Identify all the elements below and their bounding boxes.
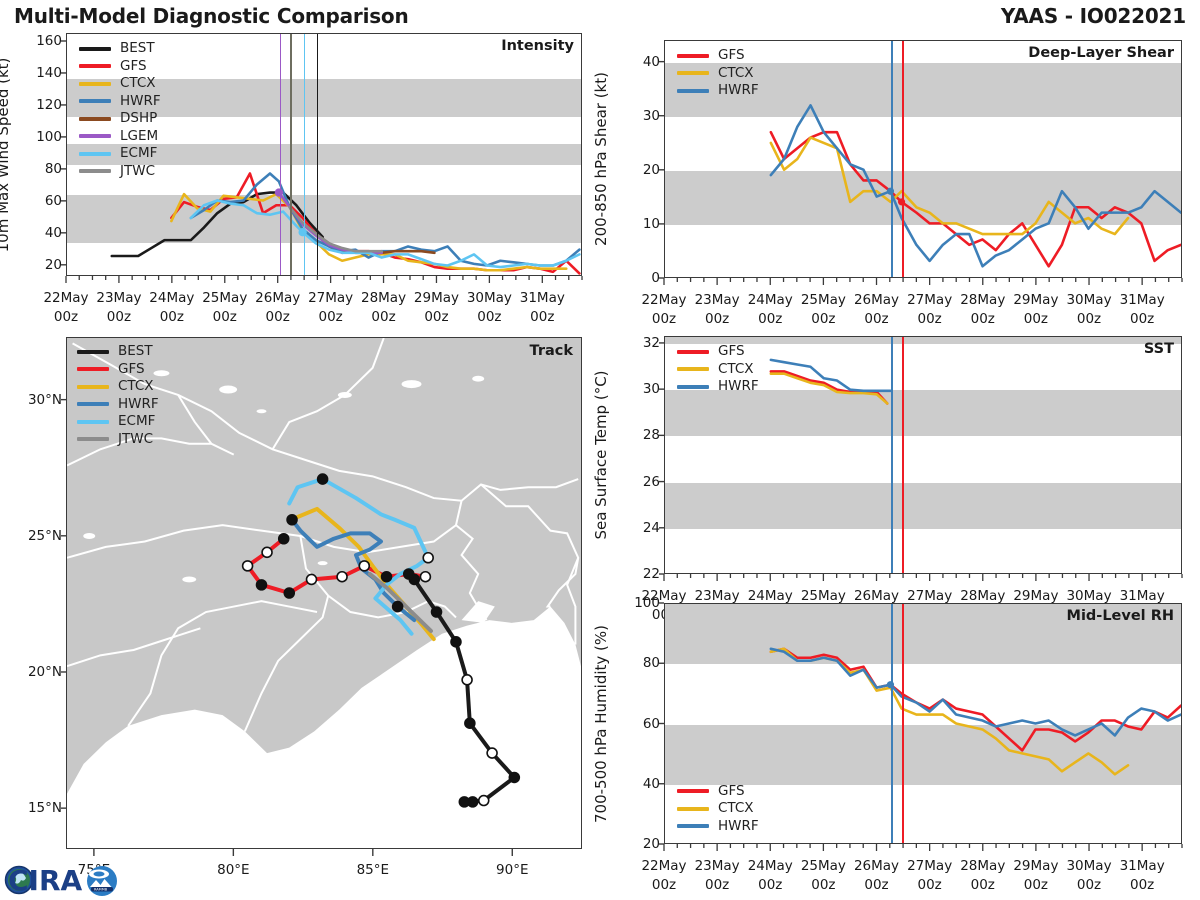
xtick-sublabel: 00z: [54, 309, 78, 325]
legend-swatch-ctcx: [77, 385, 109, 389]
track-point-filled: [393, 602, 403, 612]
legend-item-hwrf[interactable]: HWRF: [79, 93, 161, 111]
legend-swatch-ecmf: [77, 420, 109, 424]
plot-area-track: TrackBESTGFSCTCXHWRFECMFJTWC: [66, 337, 582, 849]
legend-item-hwrf[interactable]: HWRF: [677, 82, 759, 100]
svg-text:RAMMB: RAMMB: [94, 888, 108, 892]
axis-title-rh: 700-500 hPa Humidity (%): [592, 624, 610, 822]
legend-swatch-ctcx: [677, 71, 709, 75]
xtick-sublabel: 00z: [811, 311, 835, 327]
xtick-label: 29May: [414, 290, 459, 306]
axis-title-shear: 200-850 hPa Shear (kt): [592, 72, 610, 246]
xtick-sublabel: 00z: [318, 309, 342, 325]
track-point-filled: [459, 797, 469, 807]
legend-item-hwrf[interactable]: HWRF: [77, 396, 159, 414]
xtick-sublabel: 00z: [758, 311, 782, 327]
xtick-label: 29May: [1013, 858, 1058, 874]
legend-item-gfs[interactable]: GFS: [677, 783, 759, 801]
series-line-gfs: [171, 174, 579, 274]
xtick-sublabel: 00z: [1130, 877, 1154, 893]
panel-title-sst: SST: [1144, 341, 1174, 357]
legend-label-hwrf: HWRF: [718, 84, 759, 98]
vline-LGEM: [280, 34, 282, 275]
legend-track: BESTGFSCTCXHWRFECMFJTWC: [77, 343, 159, 448]
xtick-sublabel: 00z: [1024, 877, 1048, 893]
track-point-filled: [432, 607, 442, 617]
legend-item-jtwc[interactable]: JTWC: [79, 163, 161, 181]
map-waterbody: [338, 392, 352, 398]
legend-shear: GFSCTCXHWRF: [677, 47, 759, 100]
panel-title-intensity: Intensity: [501, 38, 574, 54]
panel-title-shear: Deep-Layer Shear: [1028, 45, 1174, 61]
map-waterbody: [182, 576, 196, 582]
xtick-sublabel: 00z: [918, 877, 942, 893]
xtick-label: 23May: [96, 290, 141, 306]
panel-intensity: IntensityBESTGFSCTCXHWRFDSHPLGEMECMFJTWC…: [66, 33, 582, 276]
map-border-line: [273, 338, 384, 449]
legend-label-ctcx: CTCX: [120, 77, 156, 91]
legend-label-hwrf: HWRF: [718, 380, 759, 394]
vline-HWRF: [891, 337, 893, 573]
track-point-open: [462, 675, 472, 685]
legend-label-ecmf: ECMF: [118, 415, 155, 429]
plot-area-sst: SSTGFSCTCXHWRF: [664, 336, 1182, 574]
xtick-label: 28May: [960, 292, 1005, 308]
xtick-sublabel: 00z: [811, 877, 835, 893]
legend-item-ctcx[interactable]: CTCX: [79, 75, 161, 93]
vline-ECMF: [304, 34, 306, 275]
xtick-sublabel: 00z: [705, 311, 729, 327]
panel-title-track: Track: [530, 343, 573, 359]
track-point-filled: [287, 515, 297, 525]
legend-item-best[interactable]: BEST: [77, 343, 159, 361]
legend-label-jtwc: JTWC: [120, 165, 155, 179]
xtick-sublabel: 00z: [971, 311, 995, 327]
xtick-label: 24May: [748, 292, 793, 308]
legend-swatch-jtwc: [79, 169, 111, 173]
legend-label-gfs: GFS: [118, 363, 145, 377]
legend-item-gfs[interactable]: GFS: [79, 58, 161, 76]
xtick-sublabel: 00z: [530, 309, 554, 325]
legend-swatch-ecmf: [79, 152, 111, 156]
legend-label-best: BEST: [118, 345, 153, 359]
legend-item-hwrf[interactable]: HWRF: [677, 378, 759, 396]
xtick-label: 29May: [1013, 292, 1058, 308]
legend-swatch-gfs: [77, 367, 109, 371]
series-line-gfs: [771, 132, 1181, 266]
legend-rh: GFSCTCXHWRF: [677, 783, 759, 836]
map-border-line: [67, 628, 200, 666]
xtick-sublabel: 00z: [971, 877, 995, 893]
xtick-sublabel: 00z: [864, 877, 888, 893]
legend-label-ctcx: CTCX: [118, 380, 154, 394]
legend-swatch-gfs: [677, 350, 709, 354]
xtick-label: 27May: [907, 858, 952, 874]
legend-swatch-ctcx: [677, 367, 709, 371]
track-point-open: [359, 561, 369, 571]
xtick-sublabel: 00z: [213, 309, 237, 325]
track-point-open: [479, 796, 489, 806]
legend-label-gfs: GFS: [718, 49, 745, 63]
plot-area-intensity: IntensityBESTGFSCTCXHWRFDSHPLGEMECMFJTWC: [66, 33, 582, 276]
xtick-label: 22May: [641, 292, 686, 308]
legend-item-ecmf[interactable]: ECMF: [79, 145, 161, 163]
legend-item-best[interactable]: BEST: [79, 40, 161, 58]
map-border-line: [481, 485, 578, 607]
legend-item-dshp[interactable]: DSHP: [79, 110, 161, 128]
track-point-open: [420, 572, 430, 582]
legend-item-ecmf[interactable]: ECMF: [77, 413, 159, 431]
vline-JTWC: [290, 34, 292, 275]
xtick-sublabel: 00z: [652, 311, 676, 327]
track-point-filled: [318, 474, 328, 484]
xtick-sublabel: 00z: [1077, 311, 1101, 327]
map-border-line: [456, 501, 487, 620]
xtick-label: 26May: [854, 858, 899, 874]
vline-GFS: [902, 41, 904, 277]
legend-item-ctcx[interactable]: CTCX: [77, 378, 159, 396]
legend-swatch-ctcx: [677, 807, 709, 811]
xtick-sublabel: 00z: [371, 309, 395, 325]
vline-HWRF: [891, 604, 893, 843]
vline-GFS: [902, 337, 904, 573]
map-waterbody: [219, 386, 237, 394]
xtick-label: 25May: [202, 290, 247, 306]
legend-swatch-hwrf: [79, 99, 111, 103]
legend-label-hwrf: HWRF: [718, 820, 759, 834]
track-point-open: [243, 561, 253, 571]
map-waterbody: [472, 376, 484, 382]
map-waterbody: [318, 561, 328, 565]
xtick-label: 27May: [308, 290, 353, 306]
xtick-sublabel: 00z: [705, 877, 729, 893]
legend-sst: GFSCTCXHWRF: [677, 343, 759, 396]
legend-label-hwrf: HWRF: [120, 95, 161, 109]
legend-item-gfs[interactable]: GFS: [77, 361, 159, 379]
xtick-sublabel: 00z: [1077, 877, 1101, 893]
xtick-label: 22May: [641, 858, 686, 874]
map-waterbody: [402, 380, 422, 388]
legend-swatch-ctcx: [79, 82, 111, 86]
track-point-filled: [257, 580, 267, 590]
series-line-ctcx: [171, 194, 566, 270]
estuary-polygon: [462, 601, 495, 623]
panel-track: TrackBESTGFSCTCXHWRFECMFJTWC15°N20°N25°N…: [66, 337, 582, 849]
legend-swatch-jtwc: [77, 437, 109, 441]
svg-text:CIRA: CIRA: [8, 864, 83, 897]
legend-swatch-hwrf: [677, 824, 709, 828]
series-line-ctcx: [771, 138, 1128, 235]
legend-item-ctcx[interactable]: CTCX: [677, 361, 759, 379]
panel-title-rh: Mid-Level RH: [1067, 608, 1174, 624]
xtick-sublabel: 00z: [758, 877, 782, 893]
vline-HWRF: [891, 41, 893, 277]
series-line-ecmf: [191, 200, 580, 267]
legend-item-jtwc[interactable]: JTWC: [77, 431, 159, 449]
legend-swatch-dshp: [79, 117, 111, 121]
axis-title-sst: Sea Surface Temp (°C): [592, 370, 610, 539]
legend-swatch-hwrf: [677, 385, 709, 389]
legend-label-gfs: GFS: [120, 60, 147, 74]
map-border-line: [245, 596, 328, 732]
legend-item-ctcx[interactable]: CTCX: [677, 800, 759, 818]
xtick-sublabel: 00z: [1130, 311, 1154, 327]
xtick-label: 28May: [361, 290, 406, 306]
page-title: Multi-Model Diagnostic Comparison: [14, 4, 409, 28]
legend-intensity: BESTGFSCTCXHWRFDSHPLGEMECMFJTWC: [79, 40, 161, 180]
track-point-filled: [465, 718, 475, 728]
panel-shear: Deep-Layer ShearGFSCTCXHWRF01020304022Ma…: [664, 40, 1182, 278]
storm-identifier: YAAS - IO022021: [1001, 4, 1186, 28]
legend-label-dshp: DSHP: [120, 112, 157, 126]
track-point-open: [307, 574, 317, 584]
xtick-label: 24May: [748, 858, 793, 874]
map-border-line: [128, 601, 317, 726]
xtick-sublabel: 00z: [918, 311, 942, 327]
axis-title-intensity: 10m Max Wind Speed (kt): [0, 57, 12, 252]
track-point-filled: [451, 637, 461, 647]
legend-label-gfs: GFS: [718, 345, 745, 359]
track-point-filled: [382, 572, 392, 582]
plot-area-shear: Deep-Layer ShearGFSCTCXHWRF: [664, 40, 1182, 278]
series-line-ctcx: [771, 649, 1128, 774]
track-point-filled: [284, 588, 294, 598]
xtick-sublabel: 00z: [160, 309, 184, 325]
track-point-filled: [279, 534, 289, 544]
xtick-label: 30May: [467, 290, 512, 306]
legend-swatch-hwrf: [677, 89, 709, 93]
xtick-label: 23May: [695, 292, 740, 308]
panel-rh: Mid-Level RHGFSCTCXHWRF2040608010022May0…: [664, 603, 1182, 844]
legend-swatch-lgem: [79, 134, 111, 138]
xtick-sublabel: 00z: [864, 311, 888, 327]
xtick-label: 31May: [1120, 292, 1165, 308]
panel-sst: SSTGFSCTCXHWRF22242628303222May00z23May0…: [664, 336, 1182, 574]
legend-swatch-best: [79, 47, 111, 51]
legend-swatch-best: [77, 350, 109, 354]
map-border-line: [178, 395, 234, 455]
map-waterbody: [257, 409, 267, 413]
track-point-filled: [404, 569, 414, 579]
plot-area-rh: Mid-Level RHGFSCTCXHWRF: [664, 603, 1182, 844]
legend-label-ctcx: CTCX: [718, 67, 754, 81]
xtick-label: 23May: [695, 858, 740, 874]
xtick-label: 26May: [255, 290, 300, 306]
legend-item-lgem[interactable]: LGEM: [79, 128, 161, 146]
legend-label-hwrf: HWRF: [118, 398, 159, 412]
xtick-sublabel: 00z: [477, 309, 501, 325]
xtick-label: 25May: [801, 858, 846, 874]
xtick-label: 31May: [520, 290, 565, 306]
track-point-open: [487, 748, 497, 758]
series-line-gfs: [771, 649, 1181, 751]
legend-label-jtwc: JTWC: [118, 433, 153, 447]
xtick-label: 30May: [1066, 292, 1111, 308]
xtick-sublabel: 00z: [424, 309, 448, 325]
track-point-open: [262, 547, 272, 557]
legend-swatch-gfs: [677, 54, 709, 58]
xtick-label: 31May: [1120, 858, 1165, 874]
track-point-filled: [509, 772, 519, 782]
xtick-label: 22May: [43, 290, 88, 306]
xtick-label: 30May: [1066, 858, 1111, 874]
track-point-open: [423, 553, 433, 563]
legend-swatch-hwrf: [77, 402, 109, 406]
xtick-label: 28May: [960, 858, 1005, 874]
legend-swatch-gfs: [79, 64, 111, 68]
vline-GFS: [902, 604, 904, 843]
legend-item-hwrf[interactable]: HWRF: [677, 818, 759, 836]
vline-BEST: [317, 34, 319, 275]
legend-label-ecmf: ECMF: [120, 147, 157, 161]
cira-logo: CIRA RAMMB: [4, 854, 124, 898]
ocean-polygon: [67, 607, 581, 848]
legend-label-best: BEST: [120, 42, 155, 56]
map-waterbody: [83, 533, 95, 539]
legend-label-lgem: LGEM: [120, 130, 158, 144]
xtick-sublabel: 00z: [107, 309, 131, 325]
xtick-label: 27May: [907, 292, 952, 308]
track-point-open: [337, 572, 347, 582]
legend-label-gfs: GFS: [718, 785, 745, 799]
legend-item-ctcx[interactable]: CTCX: [677, 65, 759, 83]
legend-label-ctcx: CTCX: [718, 363, 754, 377]
legend-label-ctcx: CTCX: [718, 802, 754, 816]
legend-swatch-gfs: [677, 789, 709, 793]
xtick-label: 26May: [854, 292, 899, 308]
xtick-label: 24May: [149, 290, 194, 306]
xtick-sublabel: 00z: [1024, 311, 1048, 327]
xtick-sublabel: 00z: [266, 309, 290, 325]
xtick-label: 25May: [801, 292, 846, 308]
legend-item-gfs[interactable]: GFS: [677, 47, 759, 65]
legend-item-gfs[interactable]: GFS: [677, 343, 759, 361]
xtick-sublabel: 00z: [652, 877, 676, 893]
